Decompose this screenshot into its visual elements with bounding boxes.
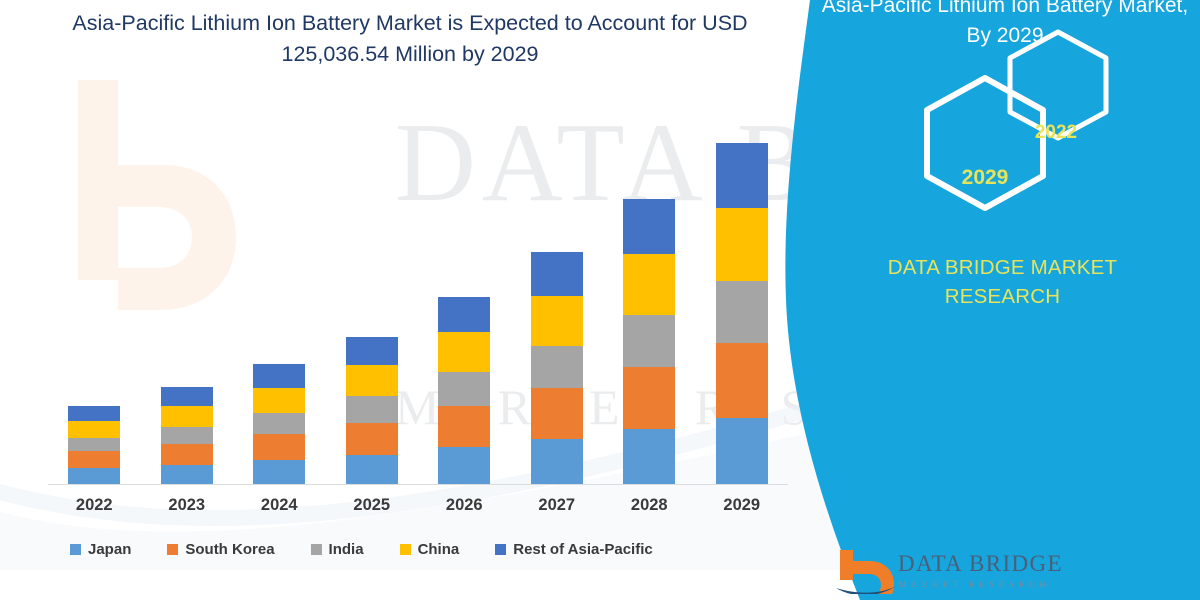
- bar-segment-rest-of-asia-pacific[interactable]: [68, 406, 120, 421]
- page-title: Asia-Pacific Lithium Ion Battery Market …: [40, 8, 780, 69]
- x-axis-label: 2024: [236, 496, 322, 515]
- x-axis-label: 2028: [606, 496, 692, 515]
- bar-segment-china[interactable]: [346, 365, 398, 397]
- stacked-bar[interactable]: [253, 364, 305, 484]
- brand-name: DATA BRIDGE MARKET RESEARCH: [815, 253, 1190, 311]
- bar-segment-china[interactable]: [623, 254, 675, 315]
- stacked-bar[interactable]: [531, 252, 583, 484]
- bar-segment-china[interactable]: [68, 421, 120, 438]
- bar-segment-india[interactable]: [716, 281, 768, 342]
- bar-segment-china[interactable]: [716, 208, 768, 282]
- legend-swatch-icon: [400, 544, 411, 555]
- bar-segment-japan[interactable]: [346, 455, 398, 484]
- bar-segment-rest-of-asia-pacific[interactable]: [623, 199, 675, 253]
- bar-segment-japan[interactable]: [716, 418, 768, 484]
- brand-panel: Asia-Pacific Lithium Ion Battery Market,…: [800, 0, 1200, 600]
- bar-segment-rest-of-asia-pacific[interactable]: [531, 252, 583, 296]
- legend-swatch-icon: [495, 544, 506, 555]
- legend-label: Japan: [88, 541, 131, 558]
- bar-segment-rest-of-asia-pacific[interactable]: [346, 337, 398, 365]
- bar-segment-south-korea[interactable]: [253, 434, 305, 460]
- legend-label: Rest of Asia-Pacific: [513, 541, 653, 558]
- bar-segment-rest-of-asia-pacific[interactable]: [161, 387, 213, 406]
- bar-segment-japan[interactable]: [531, 439, 583, 484]
- bar-segment-japan[interactable]: [161, 465, 213, 484]
- bar-segment-india[interactable]: [161, 427, 213, 444]
- bar-segment-india[interactable]: [68, 438, 120, 451]
- bar-segment-south-korea[interactable]: [438, 406, 490, 447]
- bar-segment-south-korea[interactable]: [346, 423, 398, 455]
- legend-item[interactable]: South Korea: [167, 541, 274, 558]
- bar-segment-japan[interactable]: [438, 447, 490, 484]
- stacked-bar[interactable]: [68, 406, 120, 484]
- bar-segment-japan[interactable]: [623, 429, 675, 484]
- brand-line-2: RESEARCH: [945, 285, 1061, 308]
- bar-segment-india[interactable]: [531, 346, 583, 388]
- bar-segment-south-korea[interactable]: [716, 343, 768, 418]
- bar-segment-rest-of-asia-pacific[interactable]: [438, 297, 490, 332]
- bar-segment-south-korea[interactable]: [623, 367, 675, 429]
- x-axis-label: 2029: [699, 496, 785, 515]
- chart-infographic: DATA BRIDGE MARKET RESEARCH Asia-Pacific…: [0, 0, 1200, 600]
- stacked-bar[interactable]: [716, 143, 768, 484]
- legend-swatch-icon: [70, 544, 81, 555]
- bar-segment-japan[interactable]: [253, 460, 305, 484]
- legend-label: China: [418, 541, 460, 558]
- logo-tagline: MARKET RESEARCH: [899, 579, 1050, 589]
- bar-segment-china[interactable]: [161, 406, 213, 427]
- hexagon-label-large: 2029: [935, 166, 1035, 190]
- bar-segment-china[interactable]: [531, 296, 583, 346]
- bar-segment-india[interactable]: [438, 372, 490, 405]
- logo-wordmark: DATA BRIDGE: [898, 551, 1063, 577]
- legend-item[interactable]: Japan: [70, 541, 131, 558]
- legend-item[interactable]: Rest of Asia-Pacific: [495, 541, 653, 558]
- bar-segment-rest-of-asia-pacific[interactable]: [716, 143, 768, 208]
- bar-segment-south-korea[interactable]: [161, 444, 213, 465]
- stacked-bar[interactable]: [438, 297, 490, 484]
- chart-legend: JapanSouth KoreaIndiaChinaRest of Asia-P…: [70, 541, 689, 558]
- legend-swatch-icon: [167, 544, 178, 555]
- bar-segment-rest-of-asia-pacific[interactable]: [253, 364, 305, 388]
- bar-segment-south-korea[interactable]: [531, 388, 583, 439]
- bar-segment-india[interactable]: [253, 413, 305, 434]
- bar-segment-japan[interactable]: [68, 468, 120, 484]
- legend-swatch-icon: [311, 544, 322, 555]
- legend-item[interactable]: China: [400, 541, 460, 558]
- plot-area: [48, 96, 788, 484]
- x-axis-label: 2027: [514, 496, 600, 515]
- stacked-bar[interactable]: [346, 337, 398, 484]
- x-axis-line: [48, 484, 788, 485]
- stacked-bar[interactable]: [161, 387, 213, 484]
- bar-segment-india[interactable]: [623, 315, 675, 367]
- legend-item[interactable]: India: [311, 541, 364, 558]
- x-axis-labels: 20222023202420252026202720282029: [48, 496, 788, 522]
- legend-label: India: [329, 541, 364, 558]
- x-axis-label: 2025: [329, 496, 415, 515]
- bar-segment-india[interactable]: [346, 396, 398, 422]
- company-logo: DATA BRIDGE MARKET RESEARCH: [836, 548, 1086, 600]
- stacked-bar[interactable]: [623, 199, 675, 484]
- bar-segment-china[interactable]: [253, 388, 305, 414]
- brand-line-1: DATA BRIDGE MARKET: [888, 256, 1118, 279]
- logo-b-icon: [836, 548, 896, 594]
- x-axis-label: 2026: [421, 496, 507, 515]
- x-axis-label: 2023: [144, 496, 230, 515]
- bar-segment-china[interactable]: [438, 332, 490, 372]
- bar-segment-south-korea[interactable]: [68, 451, 120, 468]
- hexagon-label-small: 2022: [1013, 122, 1099, 144]
- x-axis-label: 2022: [51, 496, 137, 515]
- legend-label: South Korea: [185, 541, 274, 558]
